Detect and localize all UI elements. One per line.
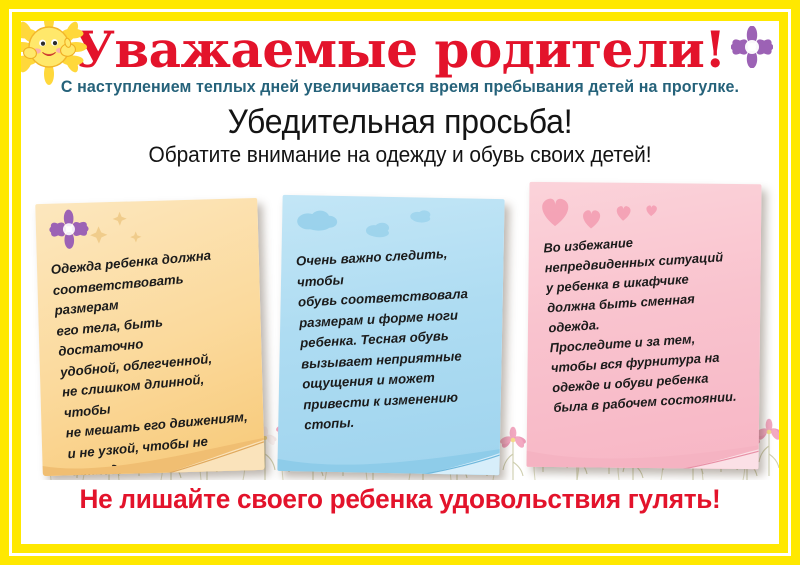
card-shoes-text: Очень важно следить, чтобы обувь соответ… (277, 195, 504, 447)
header-heading-request: Убедительная просьба! (44, 103, 757, 142)
poster-header: Уважаемые родители! (21, 21, 779, 173)
page-curl-icon (527, 435, 759, 469)
card-clothing-text: Одежда ребенка должна соответствовать ра… (35, 198, 265, 476)
card-clothing[interactable]: Одежда ребенка должна соответствовать ра… (35, 198, 265, 476)
card-spare-clothes-text: Во избежание непредвиденных ситуаций у р… (527, 182, 762, 429)
purple-flower-icon (731, 26, 773, 68)
footer-message: Не лишайте своего ребенка удовольствия г… (32, 484, 767, 515)
page-title: Уважаемые родители! (21, 21, 779, 81)
poster-content-plate: Уважаемые родители! (21, 21, 779, 544)
card-shoes[interactable]: Очень важно следить, чтобы обувь соответ… (277, 195, 504, 475)
title-row: Уважаемые родители! (21, 21, 779, 83)
header-subtitle: С наступлением теплых дней увеличивается… (32, 78, 767, 97)
cards-row: Одежда ребенка должна соответствовать ра… (21, 173, 779, 483)
card-spare-clothes[interactable]: Во избежание непредвиденных ситуаций у р… (527, 182, 762, 469)
poster-root: Уважаемые родители! (0, 0, 800, 565)
poster-footer: Не лишайте своего ребенка удовольствия г… (21, 480, 779, 544)
header-heading-attention: Обратите внимание на одежду и обувь свои… (40, 142, 760, 168)
